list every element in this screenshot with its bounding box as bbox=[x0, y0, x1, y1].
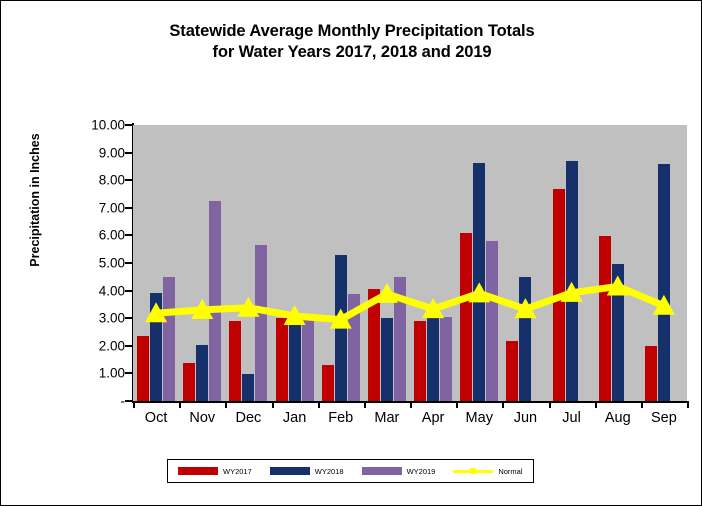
y-tick-mark bbox=[125, 262, 133, 264]
bar-wy2017-dec bbox=[229, 321, 241, 401]
bar-wy2019-mar bbox=[394, 277, 406, 401]
bar-wy2019-jan bbox=[302, 320, 314, 401]
x-tick-label-jul: Jul bbox=[562, 410, 581, 426]
x-tick-mark bbox=[364, 401, 366, 408]
bar-wy2017-oct bbox=[137, 336, 149, 401]
bar-wy2017-jul bbox=[553, 189, 565, 401]
plot-area bbox=[133, 125, 687, 401]
x-tick-label-apr: Apr bbox=[422, 410, 445, 426]
legend-label: WY2019 bbox=[407, 467, 436, 476]
x-tick-mark bbox=[549, 401, 551, 408]
x-tick-mark bbox=[687, 401, 689, 408]
y-tick-label: 10.00 bbox=[63, 118, 125, 133]
y-tick-label: 7.00 bbox=[63, 200, 125, 215]
bar-wy2019-feb bbox=[348, 294, 360, 401]
y-tick-mark bbox=[125, 400, 133, 402]
bar-wy2017-may bbox=[460, 233, 472, 401]
bar-wy2017-mar bbox=[368, 289, 380, 401]
x-tick-mark bbox=[133, 401, 135, 408]
x-tick-label-sep: Sep bbox=[651, 410, 677, 426]
bar-wy2018-aug bbox=[612, 264, 624, 401]
bar-wy2018-oct bbox=[150, 293, 162, 401]
bar-wy2017-aug bbox=[599, 236, 611, 401]
bar-wy2017-nov bbox=[183, 363, 195, 401]
y-tick-label: 3.00 bbox=[63, 311, 125, 326]
legend-swatch bbox=[178, 467, 218, 475]
x-tick-label-jun: Jun bbox=[514, 410, 537, 426]
y-tick-label: 8.00 bbox=[63, 173, 125, 188]
y-tick-label: 4.00 bbox=[63, 283, 125, 298]
x-tick-label-may: May bbox=[466, 410, 493, 426]
x-tick-label-mar: Mar bbox=[374, 410, 399, 426]
bar-wy2017-sep bbox=[645, 346, 657, 401]
y-tick-mark bbox=[125, 124, 133, 126]
bar-wy2018-mar bbox=[381, 318, 393, 401]
y-tick-mark bbox=[125, 290, 133, 292]
x-tick-mark bbox=[318, 401, 320, 408]
x-tick-label-nov: Nov bbox=[189, 410, 215, 426]
bar-wy2018-jan bbox=[289, 320, 301, 401]
y-axis-tick-labels: 10.009.008.007.006.005.004.003.002.001.0… bbox=[59, 1, 125, 506]
x-tick-mark bbox=[641, 401, 643, 408]
y-tick-mark bbox=[125, 345, 133, 347]
x-tick-mark bbox=[410, 401, 412, 408]
bar-wy2019-apr bbox=[440, 317, 452, 401]
y-tick-label: 5.00 bbox=[63, 256, 125, 271]
x-tick-mark bbox=[179, 401, 181, 408]
y-tick-mark bbox=[125, 179, 133, 181]
bar-wy2018-sep bbox=[658, 164, 670, 401]
legend-label: WY2018 bbox=[315, 467, 344, 476]
chart-legend: WY2017WY2018WY2019Normal bbox=[167, 459, 534, 483]
x-tick-label-aug: Aug bbox=[605, 410, 631, 426]
x-tick-label-feb: Feb bbox=[328, 410, 353, 426]
bar-wy2018-apr bbox=[427, 307, 439, 401]
bar-wy2017-jan bbox=[276, 318, 288, 401]
bar-wy2018-jul bbox=[566, 161, 578, 401]
bar-wy2018-dec bbox=[242, 374, 254, 401]
bar-wy2019-dec bbox=[255, 245, 267, 401]
x-tick-label-dec: Dec bbox=[236, 410, 262, 426]
legend-line-swatch bbox=[453, 466, 493, 476]
x-tick-mark bbox=[225, 401, 227, 408]
y-tick-label: - bbox=[63, 394, 125, 409]
legend-entry-wy2017[interactable]: WY2017 bbox=[178, 467, 252, 476]
y-tick-mark bbox=[125, 372, 133, 374]
bar-wy2019-nov bbox=[209, 201, 221, 401]
bar-wy2018-feb bbox=[335, 255, 347, 401]
bar-wy2017-jun bbox=[506, 341, 518, 401]
bar-wy2018-nov bbox=[196, 345, 208, 401]
y-tick-label: 6.00 bbox=[63, 228, 125, 243]
y-tick-mark bbox=[125, 152, 133, 154]
y-tick-mark bbox=[125, 234, 133, 236]
x-tick-mark bbox=[272, 401, 274, 408]
x-tick-label-jan: Jan bbox=[283, 410, 306, 426]
bar-wy2019-may bbox=[486, 241, 498, 401]
legend-entry-wy2019[interactable]: WY2019 bbox=[362, 467, 436, 476]
y-tick-mark bbox=[125, 207, 133, 209]
y-tick-mark bbox=[125, 317, 133, 319]
y-tick-label: 1.00 bbox=[63, 366, 125, 381]
legend-label: Normal bbox=[498, 467, 522, 476]
bar-wy2018-jun bbox=[519, 277, 531, 401]
x-tick-mark bbox=[502, 401, 504, 408]
legend-swatch bbox=[270, 467, 310, 475]
y-tick-label: 9.00 bbox=[63, 145, 125, 160]
bar-wy2017-apr bbox=[414, 321, 426, 401]
chart-figure: Statewide Average Monthly Precipitation … bbox=[0, 0, 702, 506]
y-axis-title: Precipitation in Inches bbox=[28, 100, 42, 300]
y-tick-label: 2.00 bbox=[63, 338, 125, 353]
normal-line-path bbox=[156, 286, 664, 319]
x-tick-label-oct: Oct bbox=[145, 410, 168, 426]
legend-label: WY2017 bbox=[223, 467, 252, 476]
bar-wy2019-oct bbox=[163, 277, 175, 401]
bar-wy2018-may bbox=[473, 163, 485, 401]
legend-line-marker bbox=[470, 468, 476, 474]
legend-swatch bbox=[362, 467, 402, 475]
legend-entry-wy2018[interactable]: WY2018 bbox=[270, 467, 344, 476]
x-tick-mark bbox=[456, 401, 458, 408]
legend-entry-normal[interactable]: Normal bbox=[453, 466, 522, 476]
x-tick-mark bbox=[595, 401, 597, 408]
bar-wy2017-feb bbox=[322, 365, 334, 401]
